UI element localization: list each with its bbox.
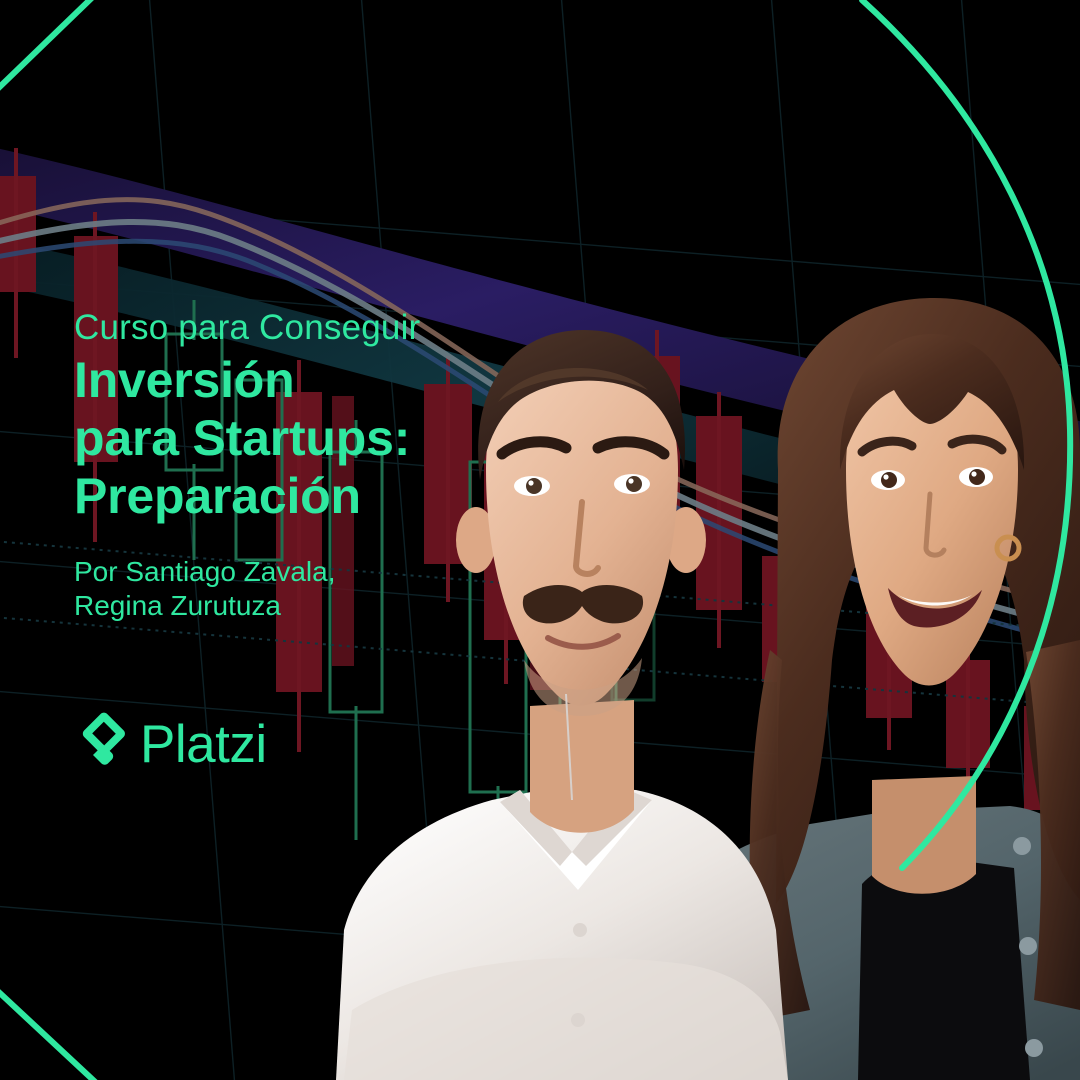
promo-card: Curso para Conseguir Inversión para Star…: [0, 0, 1080, 1080]
person-santiago: [336, 330, 788, 1080]
platzi-wordmark: Platzi: [140, 718, 267, 771]
platzi-diamond-icon: [74, 712, 126, 772]
instructors-photo: [0, 0, 1080, 1080]
platzi-logo[interactable]: Platzi: [74, 712, 267, 772]
